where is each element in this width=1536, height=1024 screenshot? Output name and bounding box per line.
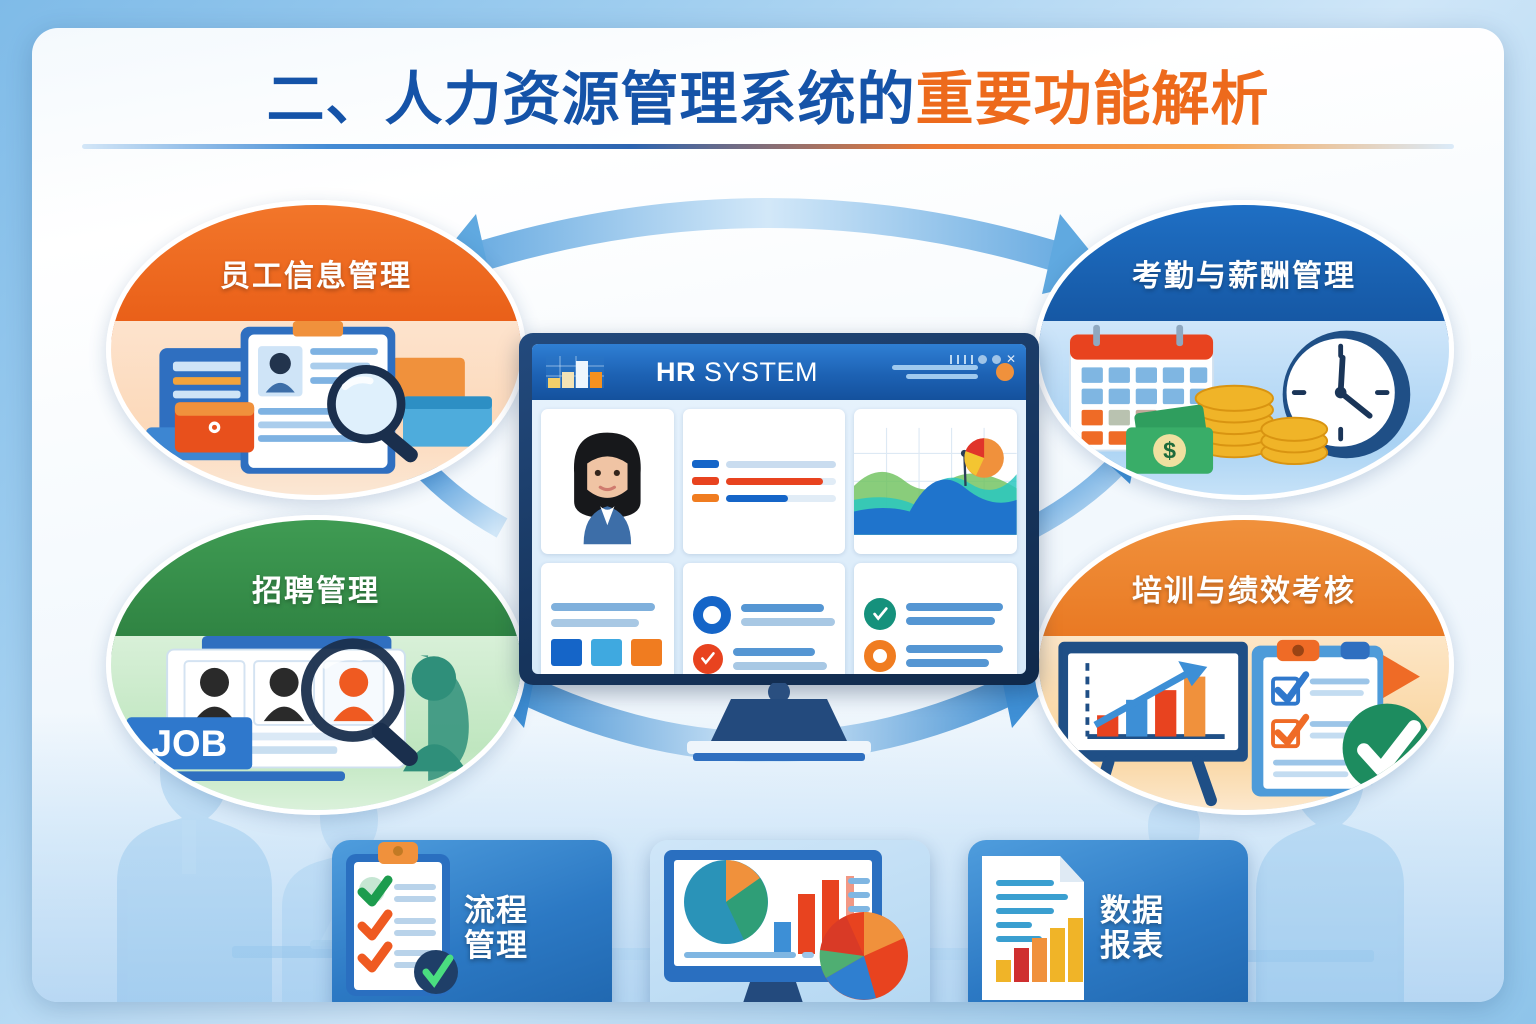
monitor-screen: HR SYSTEM ✕ xyxy=(532,344,1026,674)
bottom-card-report-line1: 数据 xyxy=(1100,894,1238,929)
hr-system-title-strong: HR xyxy=(656,357,696,387)
tag-swatch-panel[interactable] xyxy=(541,563,674,674)
bottom-card-report-text: 数据 报表 xyxy=(1100,894,1248,963)
title-divider xyxy=(82,144,1454,149)
bidirectional-arrow-top xyxy=(424,213,1112,294)
quadrant-recruitment[interactable]: 招聘管理 JOB xyxy=(106,515,526,815)
status-donut-panel[interactable] xyxy=(683,563,846,674)
infographic-frame: 二、人力资源管理系统的重要功能解析 xyxy=(32,28,1504,1002)
page-title: 二、人力资源管理系统的重要功能解析 xyxy=(32,52,1504,136)
quadrant-employee-info-art xyxy=(111,321,521,495)
quadrant-employee-info-label: 员工信息管理 xyxy=(220,251,412,295)
bottom-card-checklist-line1: 流程 xyxy=(464,894,602,929)
bottom-card-checklist[interactable]: 流程 管理 xyxy=(332,840,612,1002)
easel-chart-icon xyxy=(1058,642,1247,801)
page-title-orange: 重要功能解析 xyxy=(916,67,1270,132)
window-close-icon[interactable]: ✕ xyxy=(1006,352,1016,366)
orange-ring-icon xyxy=(864,640,896,672)
page-title-blue: 二、人力资源管理系统的 xyxy=(266,67,915,132)
metrics-bar-panel[interactable] xyxy=(683,409,846,554)
quadrant-attendance-payroll-art: $ xyxy=(1039,321,1449,495)
bottom-card-checklist-line2: 管理 xyxy=(464,929,602,964)
bar-chart-icon xyxy=(544,352,608,392)
banknote-icon: $ xyxy=(1126,404,1213,474)
bottom-card-report[interactable]: 数据 报表 xyxy=(968,840,1248,1002)
monitor-bezel: HR SYSTEM ✕ xyxy=(519,333,1039,685)
pie-bar-monitor-icon xyxy=(650,840,930,1002)
bottom-card-report-line2: 报表 xyxy=(1100,929,1238,964)
trend-chart-panel[interactable] xyxy=(854,409,1017,554)
hr-system-monitor[interactable]: HR SYSTEM ✕ xyxy=(519,333,1039,758)
green-check-icon xyxy=(1343,704,1432,793)
bottom-card-checklist-text: 流程 管理 xyxy=(464,894,612,963)
clipboard-check-icon xyxy=(332,840,464,1002)
job-badge-label: JOB xyxy=(152,723,228,764)
donut-ring-icon xyxy=(693,596,731,634)
task-status-panel[interactable] xyxy=(854,563,1017,674)
report-chart-icon xyxy=(968,840,1100,1002)
svg-text:$: $ xyxy=(1163,437,1176,463)
window-controls[interactable]: ✕ xyxy=(950,352,1016,366)
hr-dashboard-grid xyxy=(532,400,1026,674)
quadrant-recruitment-art: JOB xyxy=(111,636,521,810)
window-maximize-icon[interactable] xyxy=(992,355,1001,364)
employee-avatar-panel[interactable] xyxy=(541,409,674,554)
hr-system-title-rest: SYSTEM xyxy=(704,357,818,387)
window-minimize-icon[interactable] xyxy=(978,355,987,364)
quadrant-attendance-payroll-label: 考勤与薪酬管理 xyxy=(1132,251,1356,295)
quadrant-training-performance-art xyxy=(1039,636,1449,810)
check-badge-icon xyxy=(693,644,723,674)
quadrant-attendance-payroll[interactable]: 考勤与薪酬管理 xyxy=(1034,200,1454,500)
quadrant-training-performance-label: 培训与绩效考核 xyxy=(1132,566,1356,610)
teal-check-icon xyxy=(864,598,896,630)
bottom-card-analytics[interactable] xyxy=(650,840,930,1002)
quadrant-employee-info[interactable]: 员工信息管理 xyxy=(106,200,526,500)
quadrant-training-performance[interactable]: 培训与绩效考核 xyxy=(1034,515,1454,815)
monitor-stand xyxy=(519,683,1039,763)
quadrant-recruitment-label: 招聘管理 xyxy=(252,566,380,610)
titlebar-progress-2 xyxy=(906,374,978,379)
hr-system-titlebar: HR SYSTEM ✕ xyxy=(532,344,1026,400)
